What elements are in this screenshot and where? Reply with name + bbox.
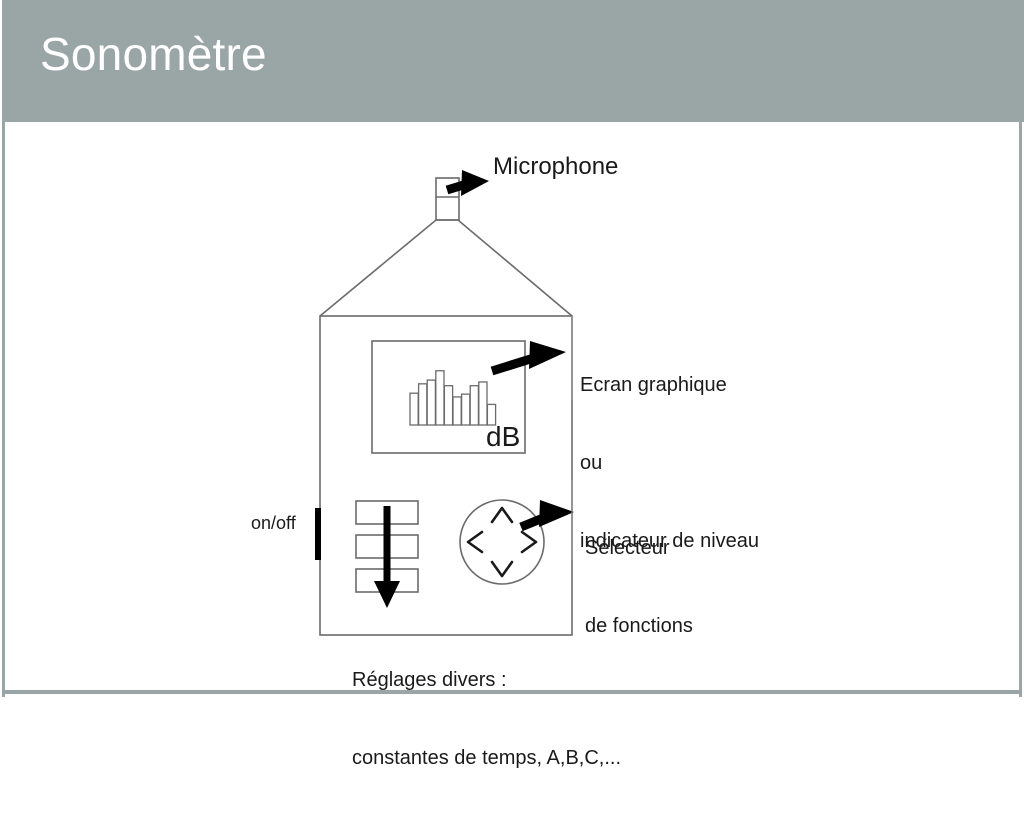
level-bar — [410, 393, 418, 425]
selector-down-icon[interactable] — [492, 562, 512, 576]
level-bar — [436, 371, 444, 425]
onoff-label: on/off — [251, 510, 296, 536]
display-unit-label: dB — [486, 422, 520, 452]
settings-label-line-2: constantes de temps, A,B,C,... — [352, 745, 621, 771]
selector-right-icon[interactable] — [522, 532, 536, 552]
microphone-label: Microphone — [493, 154, 618, 180]
level-bar — [419, 384, 427, 425]
level-bar-chart — [410, 371, 496, 425]
level-bar — [479, 382, 487, 425]
function-selector-pad[interactable] — [460, 500, 544, 584]
device-roof-outline — [320, 220, 572, 316]
screen-label-line-2: ou — [580, 450, 759, 476]
selector-left-icon[interactable] — [468, 532, 482, 552]
selector-label-line-1: Sélecteur — [585, 535, 693, 561]
settings-label-line-1: Réglages divers : — [352, 667, 621, 693]
microphone-callout-arrow — [447, 170, 489, 196]
level-bar — [470, 386, 478, 425]
screen-callout-arrow — [492, 341, 566, 371]
onoff-side-button[interactable] — [315, 508, 321, 560]
slide-root: Sonomètre — [0, 0, 1024, 697]
sound-level-meter-diagram — [0, 0, 1024, 697]
selector-callout-arrow — [521, 500, 574, 527]
level-bar — [444, 386, 452, 425]
level-bar — [453, 397, 461, 425]
settings-label: Réglages divers : constantes de temps, A… — [352, 615, 621, 823]
level-bar — [462, 394, 470, 425]
level-bar — [427, 380, 435, 425]
selector-up-icon[interactable] — [492, 508, 512, 522]
screen-label-line-1: Ecran graphique — [580, 372, 759, 398]
